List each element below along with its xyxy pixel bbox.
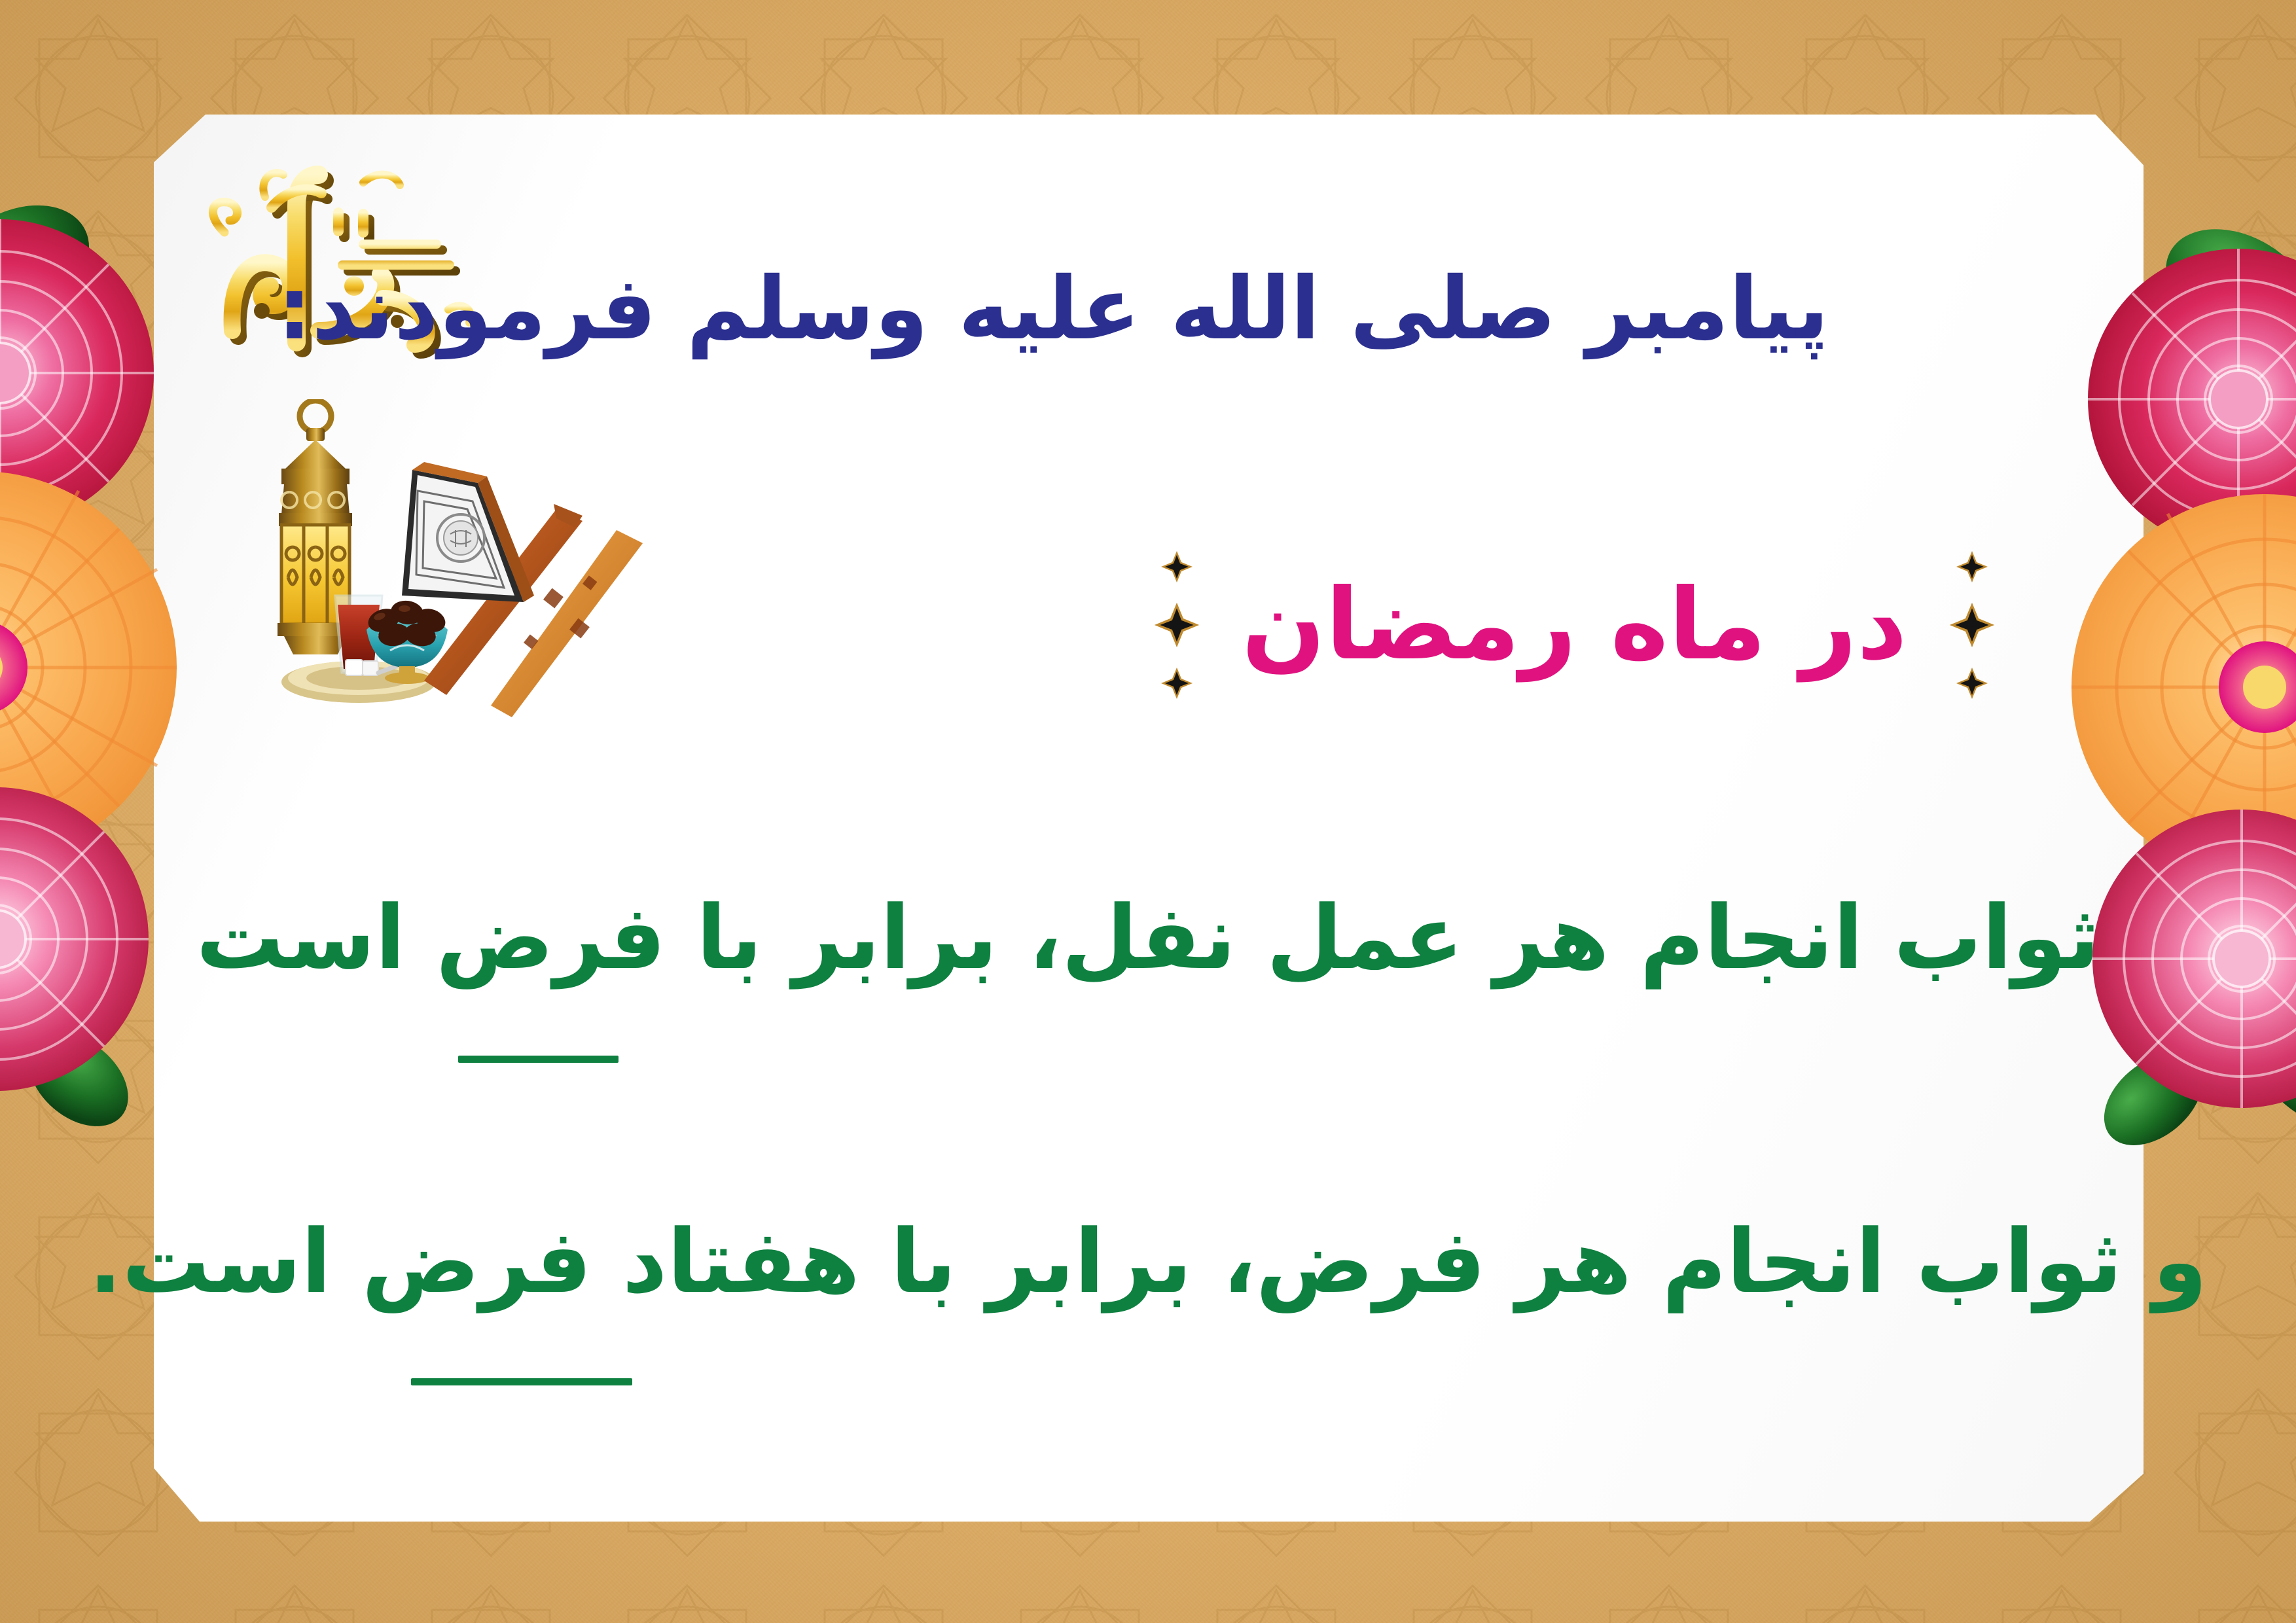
eight-point-star-icon [1955, 550, 1989, 584]
eight-point-star-icon [1160, 550, 1194, 584]
star-ornament-right [1153, 550, 1201, 700]
underline-fard-2 [411, 1378, 632, 1385]
ramadan-still-life [216, 399, 694, 740]
eight-point-star-icon [1955, 666, 1989, 700]
eight-point-star-icon [1153, 601, 1201, 649]
page-title: پیامبر صلی الله علیه وسلم فرمودند: [0, 259, 2106, 359]
eight-point-star-icon [1948, 601, 1996, 649]
eight-point-star-icon [1160, 666, 1194, 700]
highlight-text: در ماه رمضان [1242, 568, 1907, 682]
highlight-row: در ماه رمضان [753, 550, 1996, 700]
poster-stage: پیامبر صلی الله علیه وسلم فرمودند: در ما… [0, 0, 2296, 1623]
quran-icon [402, 462, 534, 602]
underline-fard-1 [458, 1056, 619, 1063]
body-line-1: ثواب انجام هر عمل نفل، برابر با فرض است [0, 887, 2296, 989]
star-ornament-left [1948, 550, 1996, 700]
body-line-2: و ثواب انجام هر فرض، برابر با هفتاد فرض … [0, 1211, 2296, 1313]
